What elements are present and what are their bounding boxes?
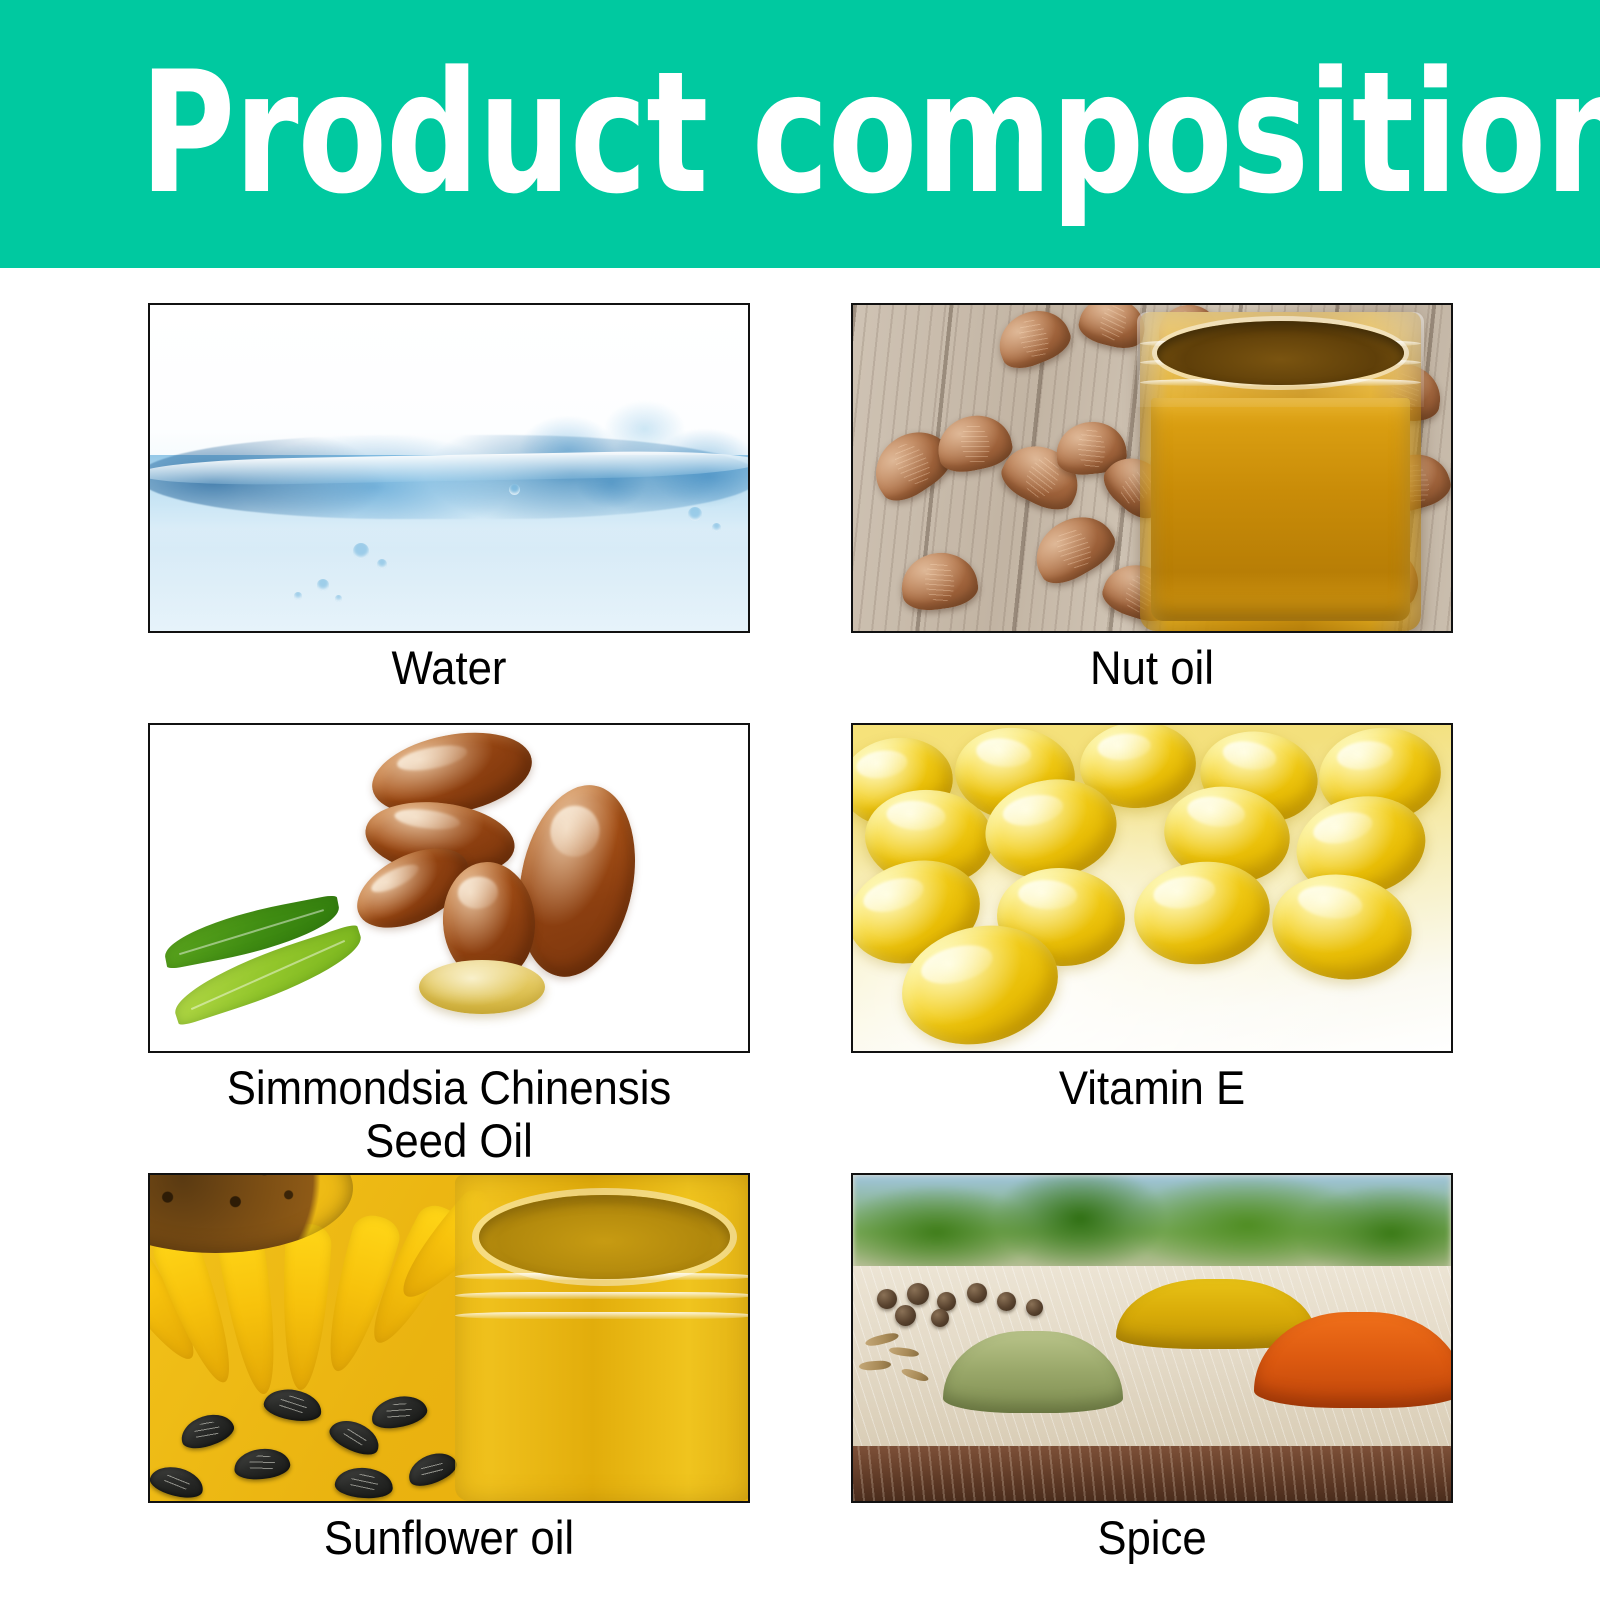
nut-oil-image (851, 303, 1453, 633)
caption-line-1: Simmondsia Chinensis (132, 1061, 766, 1114)
oil-jar (1140, 312, 1421, 631)
caption-sunflower-oil: Sunflower oil (132, 1511, 766, 1564)
spice-image (851, 1173, 1453, 1503)
header-banner: Product composition (0, 0, 1600, 268)
water-image (148, 303, 750, 633)
caption-line-2: Seed Oil (132, 1114, 766, 1167)
caption-water: Water (132, 641, 766, 694)
oil-droplet (419, 960, 545, 1014)
vitamin-e-image (851, 723, 1453, 1053)
caption-simmondsia-chinensis-seed-oil: Simmondsia Chinensis Seed Oil (132, 1061, 766, 1167)
page-title: Product composition (140, 54, 1600, 214)
jojoba-seed-image (148, 723, 750, 1053)
composition-grid: Water (0, 268, 1600, 1600)
caption-vitamin-e: Vitamin E (835, 1061, 1469, 1114)
caption-nut-oil: Nut oil (835, 641, 1469, 694)
sunflower-oil-jar (455, 1175, 750, 1501)
caption-spice: Spice (835, 1511, 1469, 1564)
sunflower-oil-image (148, 1173, 750, 1503)
